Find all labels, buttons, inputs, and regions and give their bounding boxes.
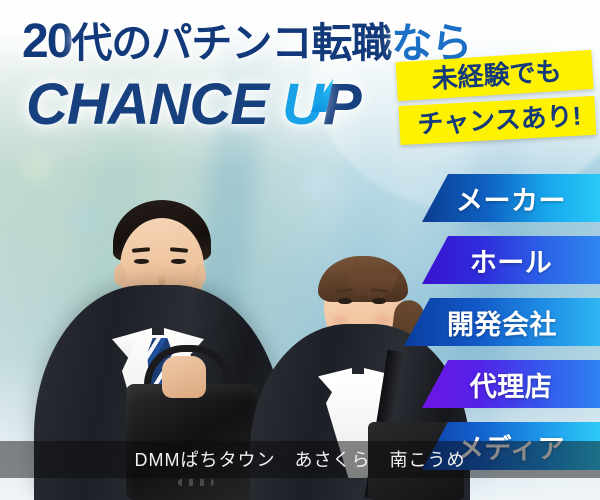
logo-letter-u: U [282, 76, 323, 134]
category-list: メーカー ホール 開発会社 代理店 メディア [0, 174, 600, 484]
headline: 20代のパチンコ転職なら [22, 18, 471, 66]
caption-text: DMMぱちタウン あさくら 南こうめ [135, 450, 466, 470]
category-label: メーカー [456, 179, 566, 218]
category-item-developer[interactable]: 開発会社 [404, 298, 600, 346]
logo-letter-p: P [323, 72, 361, 137]
category-item-maker[interactable]: メーカー [422, 174, 600, 222]
category-label: 開発会社 [447, 303, 557, 342]
brand-logo: CHANCEUP [26, 76, 361, 134]
caption-bar: DMMぱちタウン あさくら 南こうめ [0, 441, 600, 478]
banner-ad[interactable]: 20代のパチンコ転職なら CHANCEUP 未経験でも チャンスあり! メーカー… [0, 0, 600, 500]
headline-main: 代のパチンコ転職 [71, 20, 391, 66]
category-label: ホール [470, 241, 553, 280]
logo-word-chance: CHANCE [26, 72, 268, 137]
category-item-hall[interactable]: ホール [422, 236, 600, 284]
badge-inexperienced-welcome: 未経験でも チャンスあり! [396, 50, 597, 146]
category-item-agency[interactable]: 代理店 [422, 360, 600, 408]
category-label: 代理店 [470, 365, 553, 404]
headline-number: 20 [22, 15, 71, 68]
